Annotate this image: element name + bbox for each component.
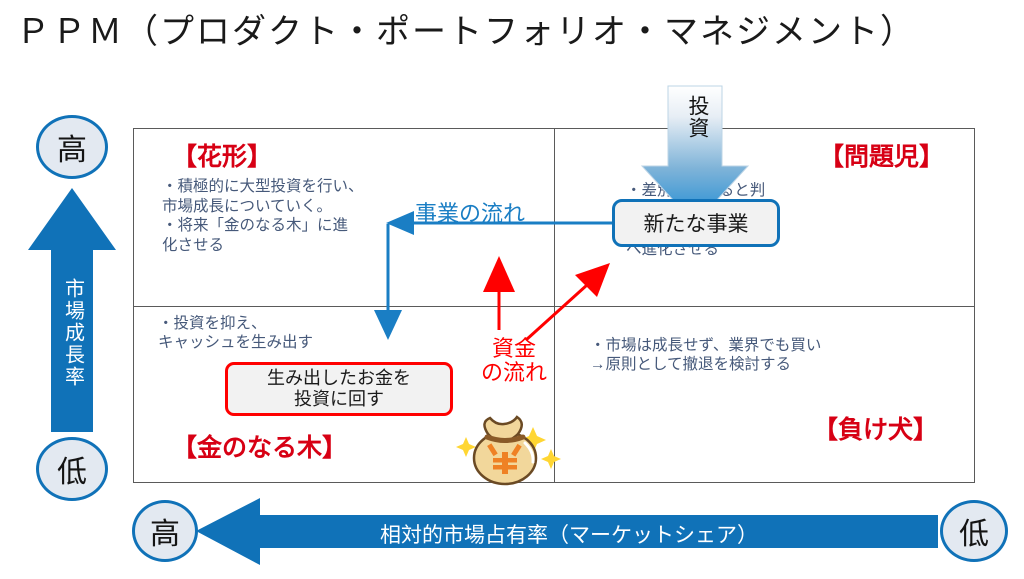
quadrant-cash-cow-body: ・投資を抑え、 キャッシュを生み出す <box>158 314 438 353</box>
page-title: ＰＰＭ（プロダクト・ポートフォリオ・マネジメント） <box>16 4 1008 53</box>
x-axis-low-marker: 低 <box>940 500 1008 562</box>
quadrant-question-mark-title: 【問題児】 <box>819 137 944 173</box>
new-business-box[interactable]: 新たな事業 <box>612 199 780 247</box>
cash-cow-callout-box[interactable]: 生み出したお金を 投資に回す <box>225 362 453 416</box>
y-axis-high-marker: 高 <box>36 115 108 179</box>
quadrant-dog-title: 【負け犬】 <box>813 410 938 446</box>
x-axis-high-marker: 高 <box>132 500 198 562</box>
business-flow-label: 事業の流れ <box>415 196 525 228</box>
quadrant-dog-body: ・市場は成長せず、業界でも買い →原則として撤退を検討する <box>590 336 920 375</box>
y-axis-low-marker: 低 <box>36 437 108 501</box>
fund-flow-label: 資金 の流れ <box>468 337 560 385</box>
quadrant-cash-cow-title: 【金のなる木】 <box>172 428 347 464</box>
x-axis-label: 相対的市場占有率（マーケットシェア） <box>380 519 758 549</box>
y-axis-label: 市場成長率 <box>54 255 92 410</box>
ppm-matrix: 【花形】 ・積極的に大型投資を行い、 市場成長についていく。 ・将来「金のなる木… <box>133 128 975 483</box>
quadrant-dog[interactable]: ・市場は成長せず、業界でも買い →原則として撤退を検討する 【負け犬】 <box>554 306 974 483</box>
quadrant-star-title: 【花形】 <box>172 137 272 173</box>
investment-arrow-label: 投資 <box>678 95 712 139</box>
quadrant-star-body: ・積極的に大型投資を行い、 市場成長についていく。 ・将来「金のなる木」に進 化… <box>162 177 422 255</box>
